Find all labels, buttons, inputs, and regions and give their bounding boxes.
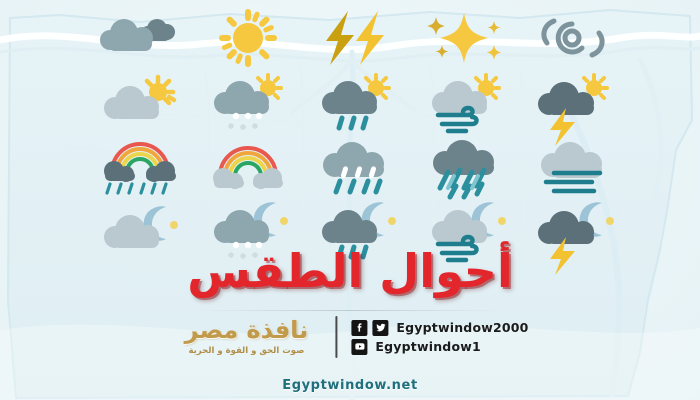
partly-cloudy-day-icon: [88, 72, 192, 134]
title-divider: [200, 310, 500, 311]
cloudy-icon: [88, 7, 192, 69]
heavy-rain-icon: [412, 136, 516, 198]
day-rain-icon: [304, 72, 408, 134]
rain-icon: [304, 136, 408, 198]
weather-icon-grid: [86, 6, 626, 264]
weather-infographic-poster: أحوال الطقس نافذة مصر صوت الحق و القوة و…: [0, 0, 700, 400]
day-thunderstorm-icon: [520, 72, 624, 134]
brand-logo-block[interactable]: نافذة مصر صوت الحق و القوة و الحرية: [171, 318, 321, 355]
sparkle-icon: [412, 7, 516, 69]
twitter-icon[interactable]: [372, 320, 388, 336]
youtube-icon[interactable]: [351, 339, 367, 355]
social-links: Egyptwindow2000 Egyptwindow1: [351, 320, 528, 355]
social-row-primary[interactable]: Egyptwindow2000: [351, 320, 528, 336]
weather-title-arabic: أحوال الطقس: [187, 244, 512, 298]
day-wind-icon: [412, 72, 516, 134]
page-title: أحوال الطقس: [0, 244, 700, 298]
brand-logo-arabic: نافذة مصر: [185, 318, 309, 343]
fog-icon: [520, 136, 624, 198]
footer-divider: [335, 316, 337, 358]
lightning-icon: [304, 7, 408, 69]
rainbow-icon: [196, 136, 300, 198]
social-row-secondary[interactable]: Egyptwindow1: [351, 339, 528, 355]
website-wrap: Egyptwindow.net: [0, 376, 700, 394]
rainbow-rain-icon: [88, 136, 192, 198]
website-url[interactable]: Egyptwindow.net: [282, 378, 418, 393]
sunny-icon: [196, 7, 300, 69]
brand-tagline-arabic: صوت الحق و القوة و الحرية: [189, 346, 305, 356]
social-handle-secondary[interactable]: Egyptwindow1: [375, 339, 480, 354]
social-handle-primary[interactable]: Egyptwindow2000: [396, 320, 528, 335]
footer-brand-row: نافذة مصر صوت الحق و القوة و الحرية Egyp…: [171, 316, 528, 358]
day-snow-icon: [196, 72, 300, 134]
footer: نافذة مصر صوت الحق و القوة و الحرية Egyp…: [0, 316, 700, 400]
hurricane-icon: [520, 7, 624, 69]
facebook-icon[interactable]: [351, 320, 367, 336]
